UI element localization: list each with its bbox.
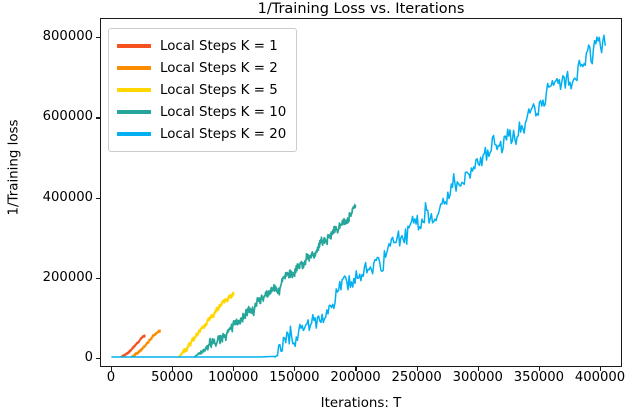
x-axis-tick-labels: 0500001000001500002000002500003000003500… — [0, 0, 640, 419]
legend-color-swatch — [117, 110, 151, 113]
legend-item: Local Steps K = 5 — [117, 79, 286, 101]
legend-color-swatch — [117, 88, 151, 91]
y-tick-mark — [96, 278, 100, 279]
x-tick-mark — [417, 367, 418, 371]
y-tick-mark — [96, 117, 100, 118]
x-tick-label: 350000 — [514, 371, 564, 385]
legend-item: Local Steps K = 10 — [117, 101, 286, 123]
legend-color-swatch — [117, 66, 151, 69]
y-tick-mark — [96, 37, 100, 38]
x-tick-label: 300000 — [453, 371, 503, 385]
x-tick-label: 400000 — [575, 371, 625, 385]
x-tick-mark — [294, 367, 295, 371]
legend-color-swatch — [117, 132, 151, 135]
legend-label: Local Steps K = 1 — [160, 39, 278, 54]
x-tick-mark — [600, 367, 601, 371]
x-tick-label: 100000 — [208, 371, 258, 385]
legend-item: Local Steps K = 1 — [117, 35, 286, 57]
legend-label: Local Steps K = 5 — [160, 83, 278, 98]
chart-figure: 1/Training Loss vs. Iterations 1/Trainin… — [0, 0, 640, 419]
x-tick-mark — [233, 367, 234, 371]
legend-label: Local Steps K = 10 — [160, 105, 286, 120]
x-tick-label: 200000 — [330, 371, 380, 385]
x-tick-label: 50000 — [151, 371, 193, 385]
chart-legend: Local Steps K = 1Local Steps K = 2Local … — [108, 28, 297, 152]
legend-label: Local Steps K = 2 — [160, 61, 278, 76]
x-tick-label: 0 — [107, 371, 115, 385]
legend-color-swatch — [117, 44, 151, 47]
x-tick-mark — [172, 367, 173, 371]
x-tick-label: 250000 — [391, 371, 441, 385]
legend-label: Local Steps K = 20 — [160, 127, 286, 142]
x-tick-mark — [355, 367, 356, 371]
x-tick-mark — [539, 367, 540, 371]
legend-item: Local Steps K = 2 — [117, 57, 286, 79]
x-tick-mark — [111, 367, 112, 371]
y-tick-mark — [96, 198, 100, 199]
x-tick-label: 150000 — [269, 371, 319, 385]
legend-item: Local Steps K = 20 — [117, 123, 286, 145]
x-axis-label: Iterations: T — [100, 396, 622, 411]
x-tick-mark — [478, 367, 479, 371]
y-tick-mark — [96, 358, 100, 359]
